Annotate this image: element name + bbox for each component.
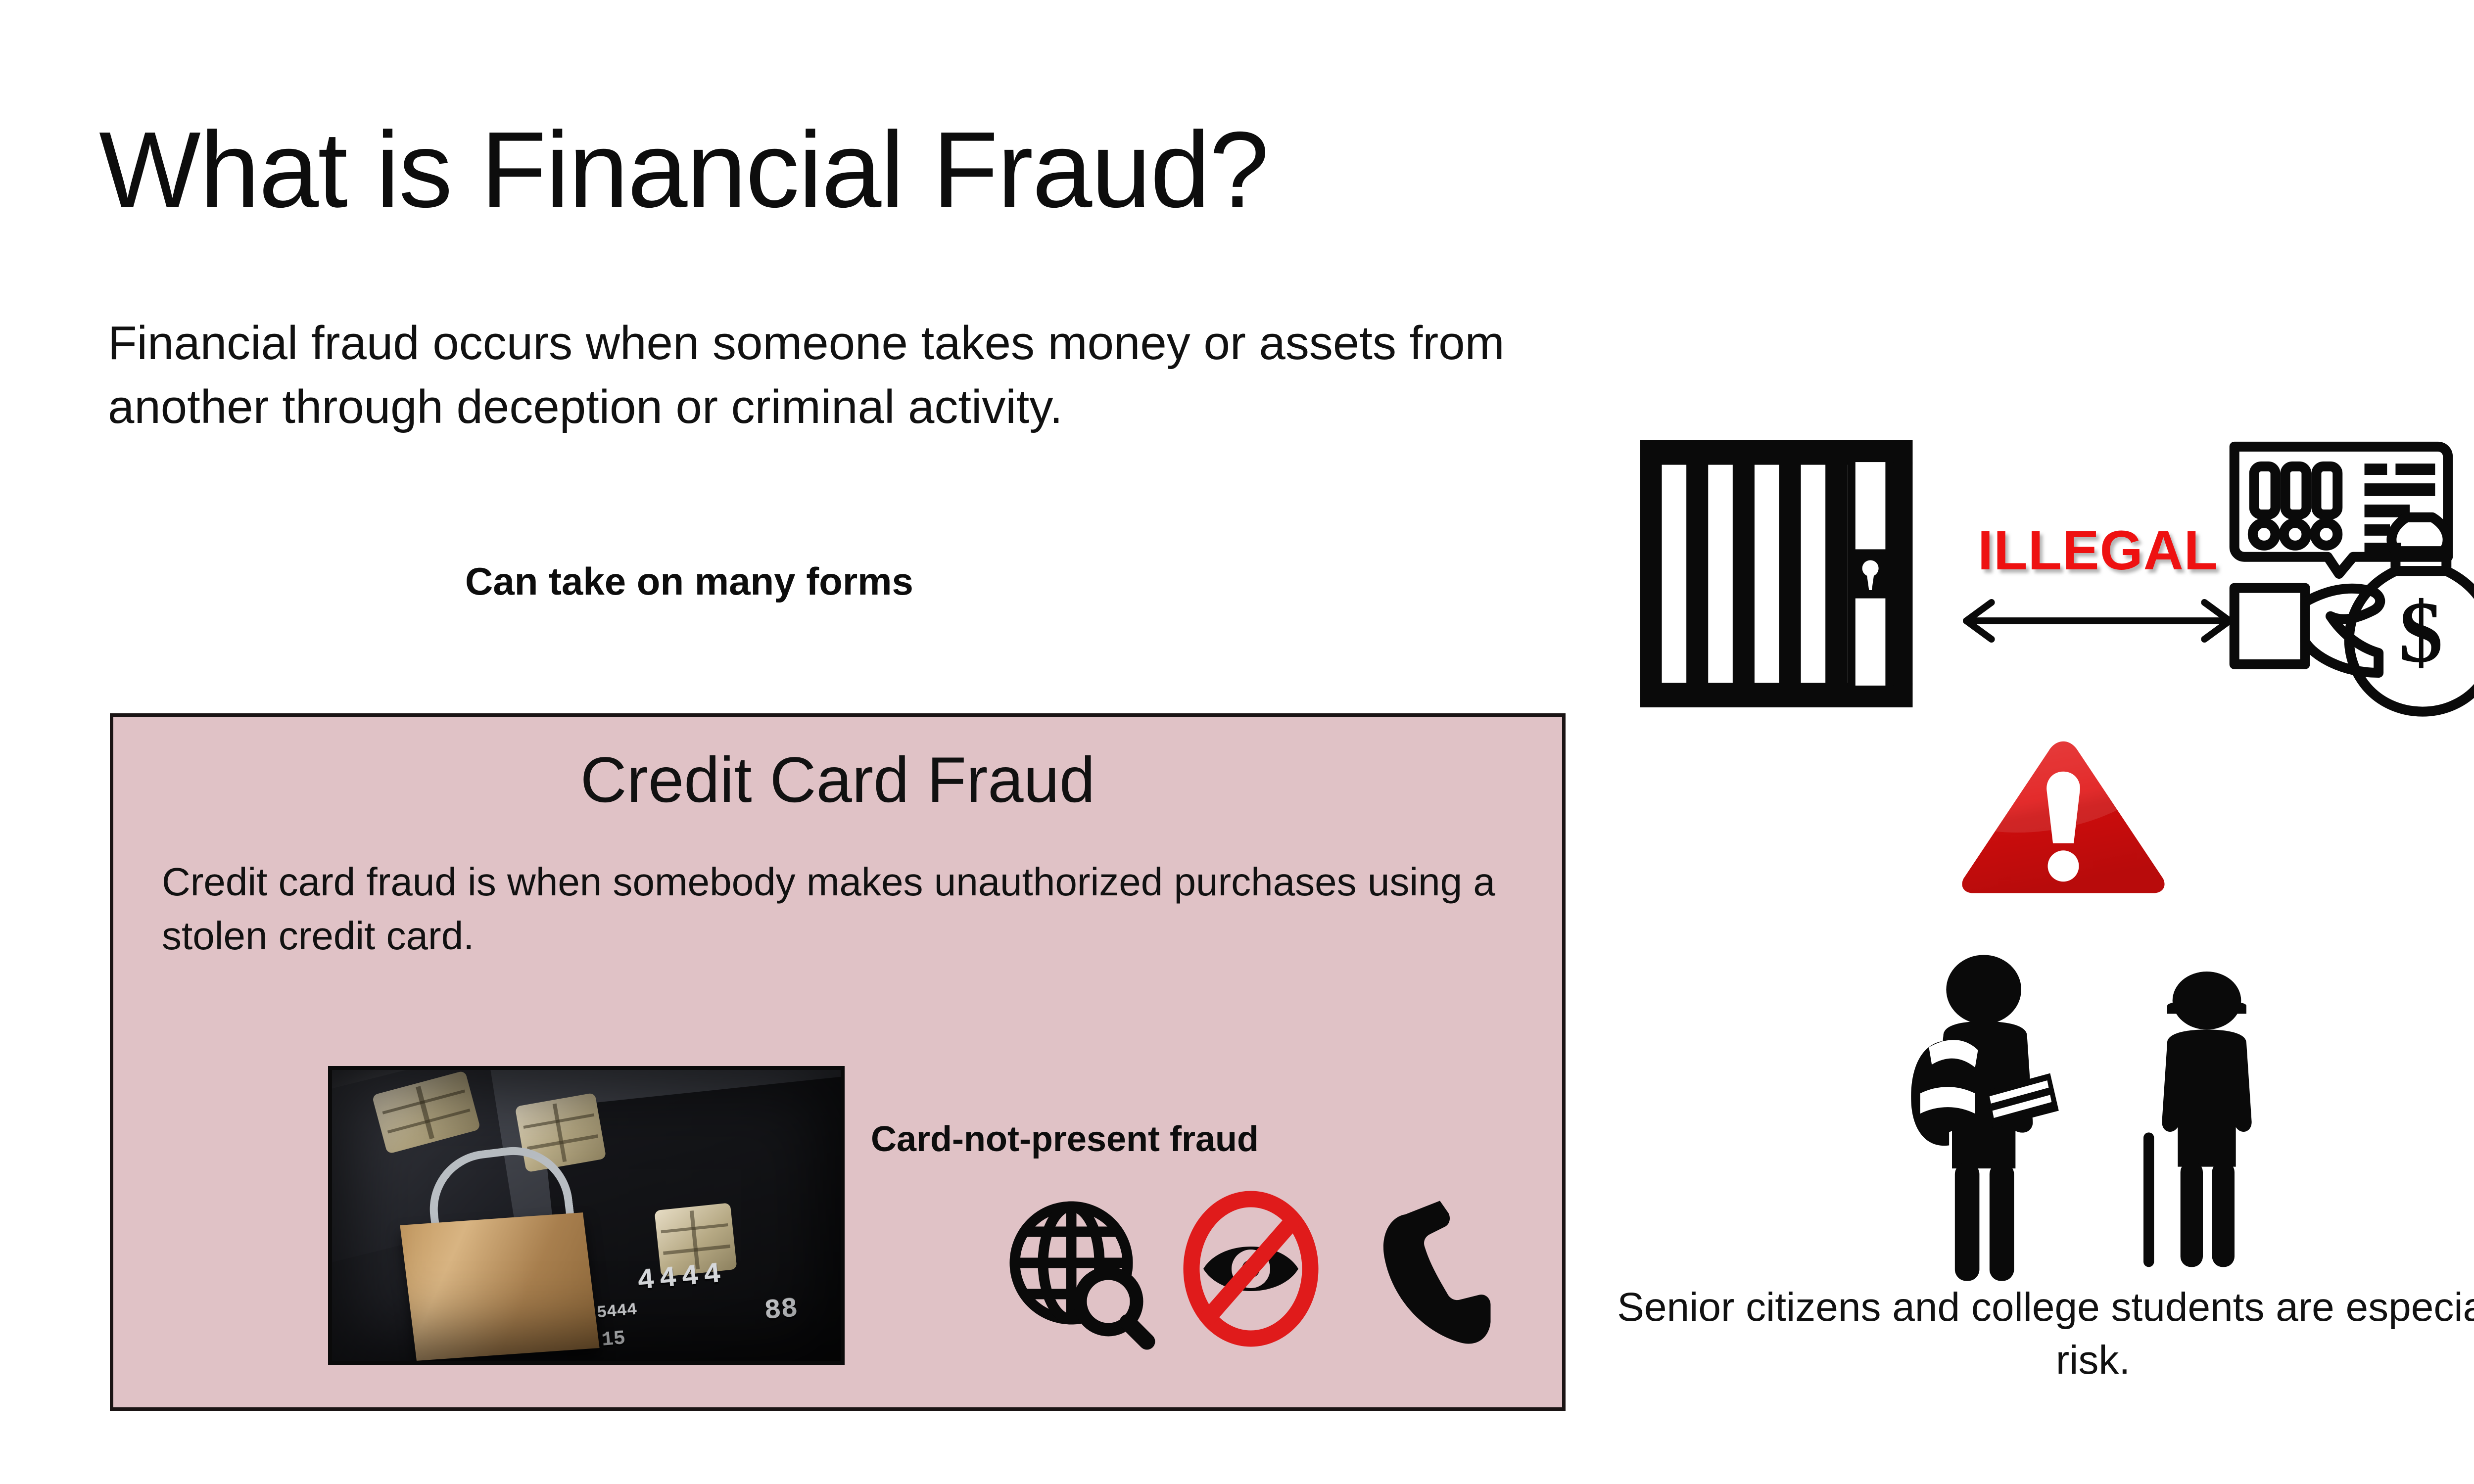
- dollar-sign: $: [2399, 584, 2443, 681]
- risk-graphic: [1895, 737, 2370, 1291]
- risk-caption: Senior citizens and college students are…: [1613, 1281, 2474, 1387]
- many-forms-label: Can take on many forms: [465, 559, 913, 604]
- page-title: What is Financial Fraud?: [99, 113, 1268, 227]
- phone-icon: [1371, 1192, 1494, 1345]
- intro-paragraph: Financial fraud occurs when someone take…: [108, 312, 1592, 439]
- card-not-present-icon-row: [1004, 1192, 1534, 1355]
- no-eye-icon: [1177, 1192, 1325, 1345]
- slide-canvas: What is Financial Fraud? Financial fraud…: [0, 0, 2474, 1484]
- globe-search-icon: [1004, 1192, 1153, 1345]
- senior-citizen-figure: [2128, 945, 2286, 1291]
- card-title: Credit Card Fraud: [113, 742, 1562, 817]
- college-student-figure: [1900, 945, 2073, 1291]
- illegal-graphic: ILLEGAL: [1638, 435, 2474, 742]
- credit-card-padlock-photo: 4444 5444 MEMBER SINCE 15 88: [328, 1066, 845, 1365]
- warning-triangle-icon: [1959, 737, 2167, 895]
- card-not-present-label: Card-not-present fraud: [871, 1119, 1259, 1159]
- photo-vignette: [332, 1070, 841, 1361]
- card-description: Credit card fraud is when somebody makes…: [162, 855, 1527, 963]
- hand-taking-money-bag-icon: $: [2192, 435, 2474, 732]
- jail-bars-icon: [1638, 440, 1915, 707]
